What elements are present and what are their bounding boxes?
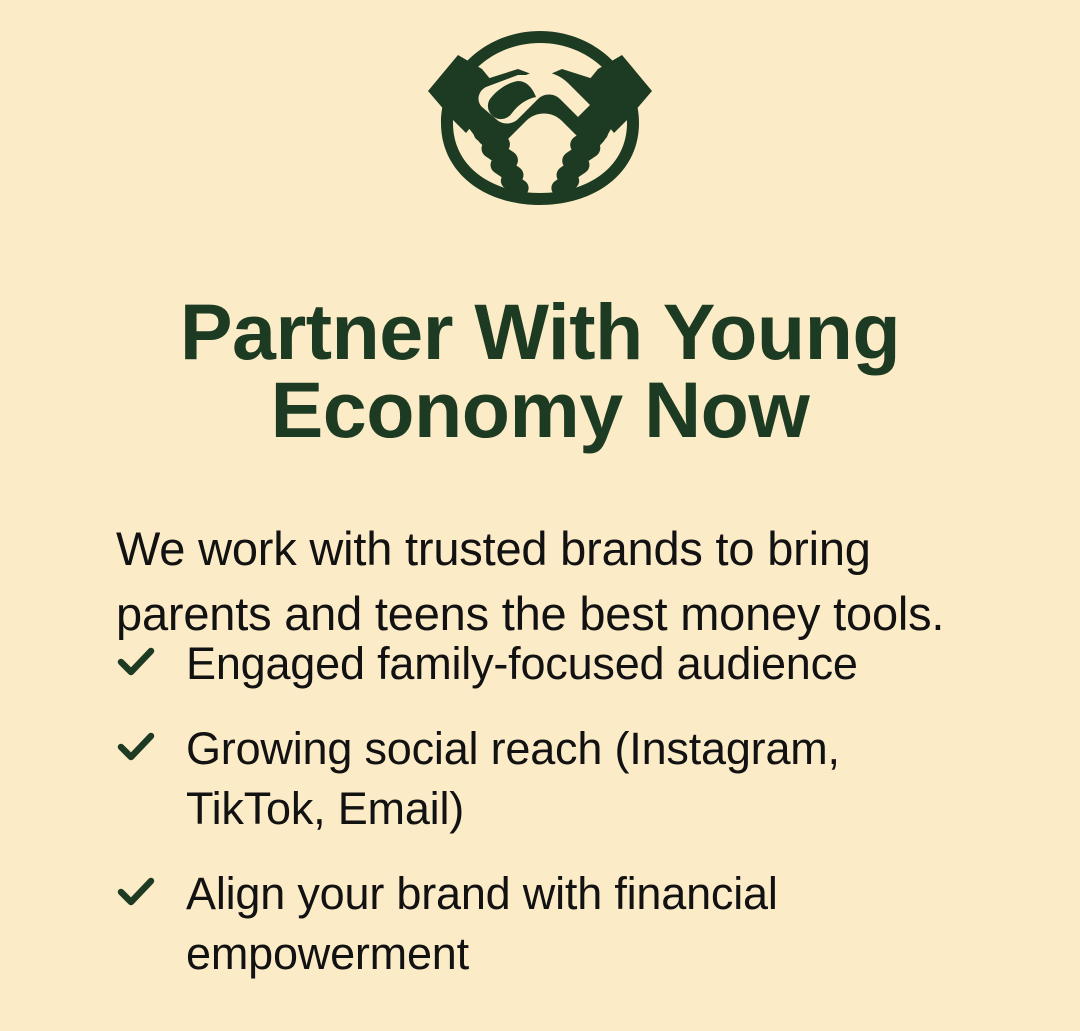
list-item-label: Align your brand with financial empowerm… [186,864,976,983]
list-item-label: Growing social reach (Instagram, TikTok,… [186,719,976,838]
benefits-list: Engaged family-focused audience Growing … [116,634,1036,983]
list-item: Align your brand with financial empowerm… [116,864,1036,983]
partner-promo-card: Partner With Young Economy Now We work w… [0,0,1080,1031]
logo-container [0,22,1080,212]
page-title-line-2: Economy Now [60,371,1020,449]
page-title: Partner With Young Economy Now [0,293,1080,449]
list-item: Engaged family-focused audience [116,634,1036,693]
subheading: We work with trusted brands to bring par… [116,517,1016,647]
check-icon [116,864,160,920]
handshake-in-circle-icon [422,25,658,210]
list-item: Growing social reach (Instagram, TikTok,… [116,719,1036,838]
page-title-line-1: Partner With Young [60,293,1020,371]
list-item-label: Engaged family-focused audience [186,634,858,693]
check-icon [116,719,160,775]
subheading-line-1: We work with trusted brands to bring [116,517,1016,582]
check-icon [116,634,160,690]
